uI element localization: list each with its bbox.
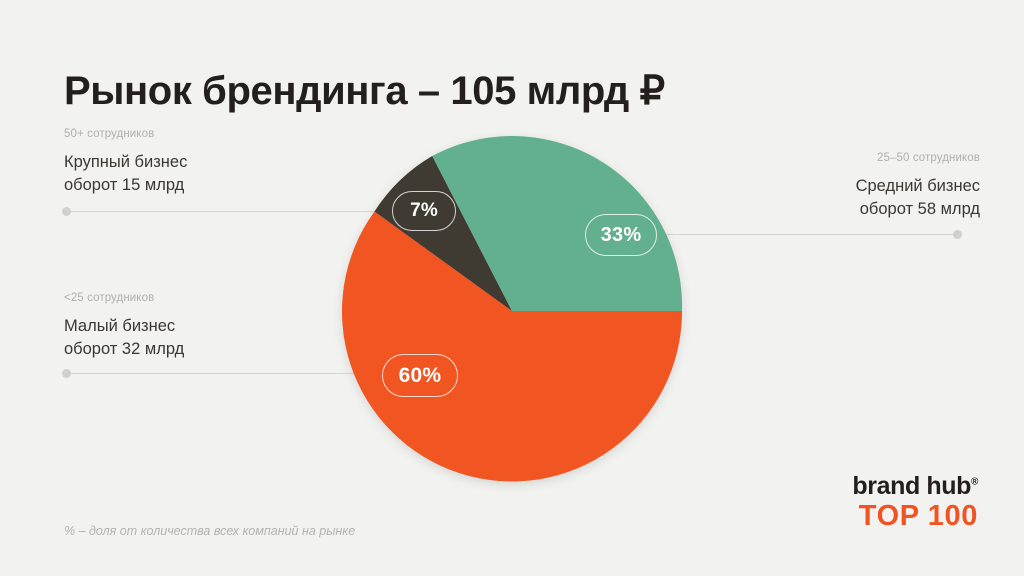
badge-percent-large-business-label: 7% xyxy=(410,200,438,222)
callout-large-business: 50+ сотрудников Крупный бизнес оборот 15… xyxy=(64,128,187,198)
leader-line-small-business xyxy=(69,373,375,374)
logo-wordmark: brand hub® xyxy=(852,473,978,499)
page-title: Рынок брендинга – 105 млрд ₽ xyxy=(64,68,665,114)
callout-small-business: <25 сотрудников Малый бизнес оборот 32 м… xyxy=(64,292,184,362)
footnote: % – доля от количества всех компаний на … xyxy=(64,524,355,538)
callout-small-business-line1: Малый бизнес xyxy=(64,315,184,338)
callout-large-business-line1: Крупный бизнес xyxy=(64,151,187,174)
callout-medium-business-eyebrow: 25–50 сотрудников xyxy=(856,152,980,166)
pie-chart xyxy=(336,135,688,487)
leader-dot-large-business xyxy=(62,207,71,216)
callout-small-business-line2: оборот 32 млрд xyxy=(64,338,184,361)
logo-wordmark-text: brand hub xyxy=(852,472,971,500)
callout-large-business-line2: оборот 15 млрд xyxy=(64,174,187,197)
callout-small-business-eyebrow: <25 сотрудников xyxy=(64,292,184,306)
leader-line-large-business xyxy=(69,211,379,212)
logo: brand hub® TOP 100 xyxy=(852,473,978,533)
logo-tagline: TOP 100 xyxy=(852,501,978,533)
badge-percent-small-business-label: 60% xyxy=(399,364,442,388)
badge-percent-large-business: 7% xyxy=(392,191,456,231)
badge-percent-small-business: 60% xyxy=(382,354,458,397)
registered-trademark-icon: ® xyxy=(971,477,978,488)
slide-canvas: Рынок брендинга – 105 млрд ₽ xyxy=(0,0,1024,576)
callout-medium-business-line2: оборот 58 млрд xyxy=(856,198,980,221)
leader-dot-small-business xyxy=(62,369,71,378)
leader-line-medium-business xyxy=(650,234,960,235)
leader-dot-medium-business xyxy=(953,230,962,239)
callout-medium-business-line1: Средний бизнес xyxy=(856,175,980,198)
callout-large-business-eyebrow: 50+ сотрудников xyxy=(64,128,187,142)
badge-percent-medium-business-label: 33% xyxy=(601,224,642,247)
callout-medium-business: 25–50 сотрудников Средний бизнес оборот … xyxy=(856,152,980,222)
badge-percent-medium-business: 33% xyxy=(585,214,657,256)
